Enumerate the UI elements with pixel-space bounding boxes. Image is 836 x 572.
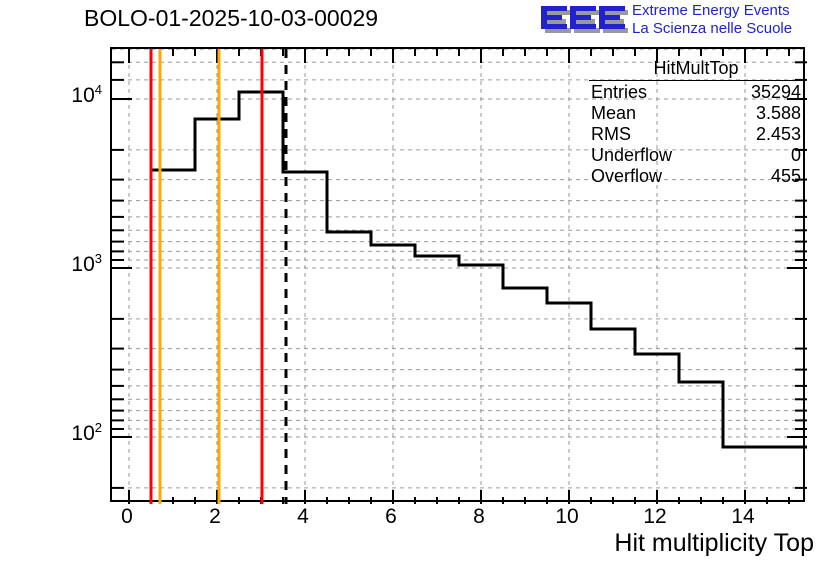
x-axis-title: Hit multiplicity Top	[614, 529, 814, 558]
stats-value-rms: 2.453	[756, 124, 801, 145]
x-tick-label-12: 12	[635, 505, 675, 529]
x-tick-label-10: 10	[547, 505, 587, 529]
x-tick-label-2: 2	[195, 505, 235, 529]
stats-value-mean: 3.588	[756, 103, 801, 124]
root-canvas: BOLO-01-2025-10-03-00029	[0, 0, 836, 572]
stats-divider	[589, 80, 803, 81]
y-tick-label-1e4: 104	[40, 82, 102, 108]
stats-row-underflow: Underflow 0	[589, 145, 803, 166]
eee-logo-text: Extreme Energy Events La Scienza nelle S…	[632, 2, 832, 38]
y-tick-label-1e3: 103	[40, 251, 102, 277]
stats-key-mean: Mean	[591, 103, 636, 124]
stats-key-overflow: Overflow	[591, 166, 662, 187]
stats-value-entries: 35294	[751, 82, 801, 103]
stats-title: HitMultTop	[589, 58, 803, 80]
x-tick-label-8: 8	[459, 505, 499, 529]
eee-logo: Extreme Energy Events La Scienza nelle S…	[540, 1, 832, 41]
page-title: BOLO-01-2025-10-03-00029	[84, 5, 378, 32]
x-tick-label-0: 0	[107, 505, 147, 529]
x-tick-label-6: 6	[371, 505, 411, 529]
eee-logo-line2: La Scienza nelle Scuole	[632, 20, 832, 38]
stats-key-entries: Entries	[591, 82, 647, 103]
stats-value-overflow: 455	[771, 166, 801, 187]
stats-row-mean: Mean 3.588	[589, 103, 803, 124]
stats-row-rms: RMS 2.453	[589, 124, 803, 145]
stats-value-underflow: 0	[791, 145, 801, 166]
eee-logo-mark	[540, 2, 628, 38]
stats-key-rms: RMS	[591, 124, 631, 145]
eee-logo-line1: Extreme Energy Events	[632, 2, 832, 20]
x-tick-label-14: 14	[723, 505, 763, 529]
stats-row-overflow: Overflow 455	[589, 166, 803, 187]
x-tick-label-4: 4	[283, 505, 323, 529]
y-tick-label-1e2: 102	[40, 420, 102, 446]
stats-box: HitMultTop Entries 35294 Mean 3.588 RMS …	[589, 58, 803, 187]
stats-key-underflow: Underflow	[591, 145, 672, 166]
stats-row-entries: Entries 35294	[589, 82, 803, 103]
